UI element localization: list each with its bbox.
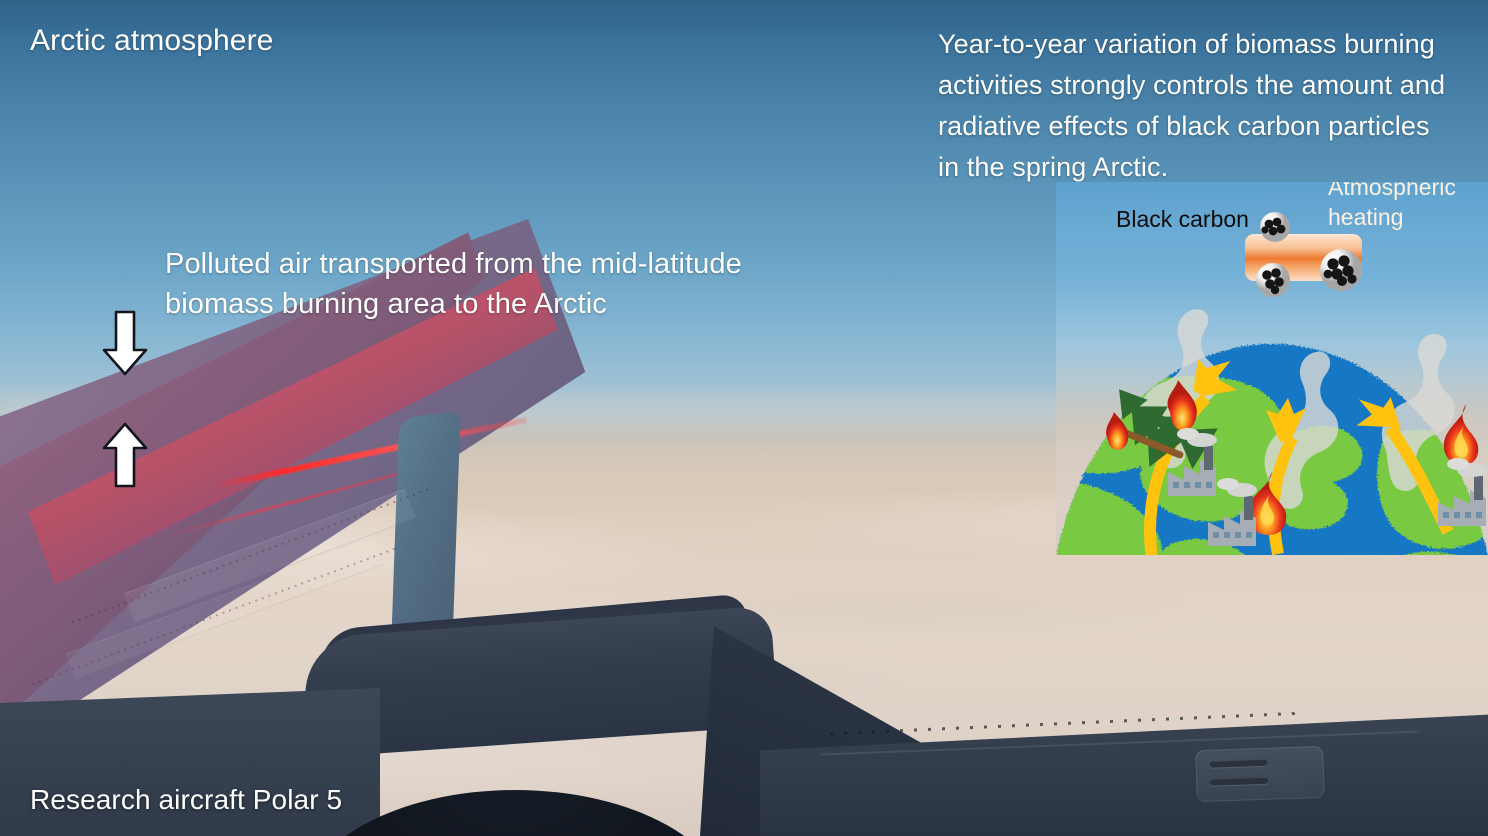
black-carbon-particle-right — [1320, 249, 1362, 291]
headline-statement: Year-to-year variation of biomass burnin… — [938, 24, 1445, 188]
downward-transport-arrow-icon — [102, 310, 148, 376]
vent-slot — [1210, 760, 1268, 768]
vent-slot — [1210, 778, 1268, 786]
black-carbon-particle-top — [1260, 212, 1290, 242]
black-carbon-particle-left — [1256, 263, 1290, 297]
label-black-carbon: Black carbon — [1116, 205, 1249, 233]
inset-schematic-diagram: Black carbon Atmospheric heating — [1056, 182, 1488, 555]
page-title: Arctic atmosphere — [30, 23, 273, 59]
upward-transport-arrow-icon — [102, 422, 148, 488]
annotation-polluted-air: Polluted air transported from the mid-la… — [165, 244, 742, 324]
caption-research-aircraft: Research aircraft Polar 5 — [30, 783, 342, 817]
slide-canvas: Arctic atmosphere Polluted air transport… — [0, 0, 1488, 836]
earth-and-arrows-graphic — [1056, 182, 1488, 555]
label-atmospheric-heating: Atmospheric heating — [1328, 182, 1456, 232]
fuselage-vent-panel — [1195, 746, 1325, 802]
